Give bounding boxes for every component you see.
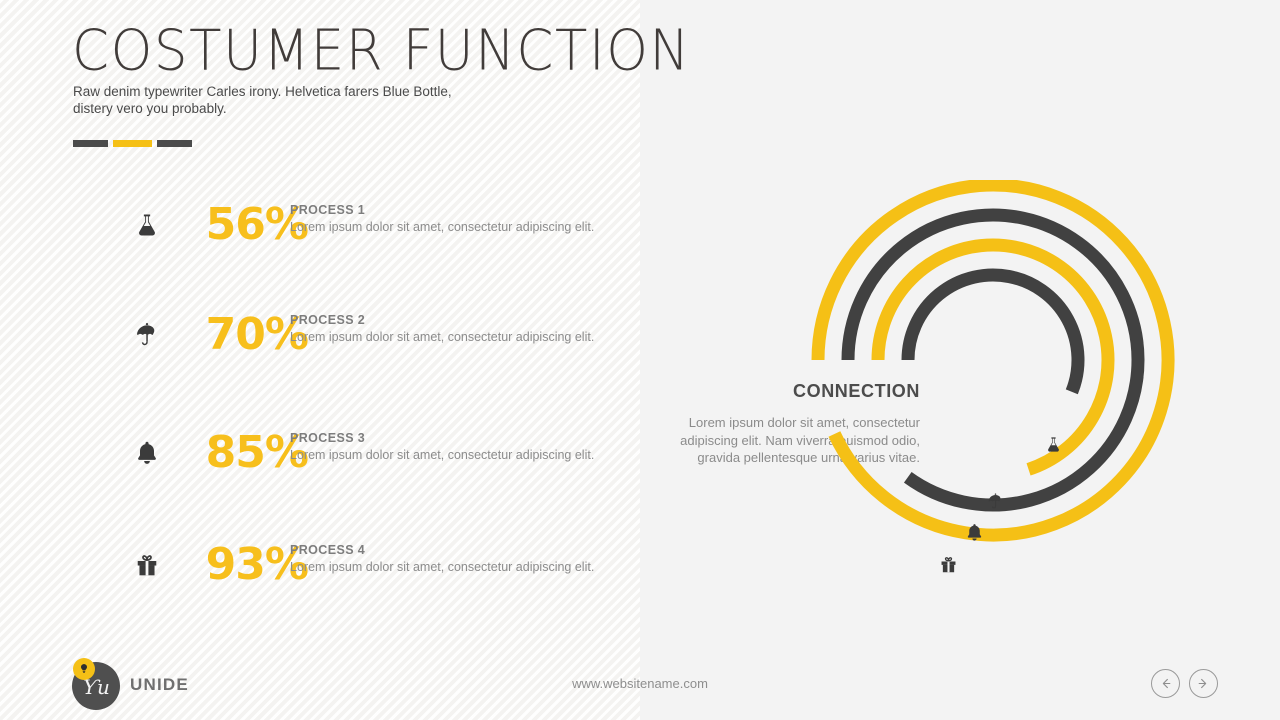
- process-title: PROCESS 4: [290, 543, 610, 557]
- process-text-block: PROCESS 1 Lorem ipsum dolor sit amet, co…: [290, 203, 610, 235]
- process-item-4[interactable]: 93% PROCESS 4 Lorem ipsum dolor sit amet…: [130, 540, 610, 610]
- radial-arc-chart: [800, 180, 1200, 600]
- website-url: www.websitename.com: [440, 676, 840, 691]
- brand-name: UNIDE: [130, 675, 189, 695]
- page-title: COSTUMER FUNCTION: [72, 18, 691, 83]
- flask-icon: [1041, 432, 1065, 456]
- process-text-block: PROCESS 2 Lorem ipsum dolor sit amet, co…: [290, 313, 610, 345]
- process-percent: 93%: [160, 540, 308, 590]
- slide-root: COSTUMER FUNCTION Raw denim typewriter C…: [0, 0, 1280, 720]
- process-title: PROCESS 1: [290, 203, 610, 217]
- gift-icon: [936, 552, 960, 576]
- process-description: Lorem ipsum dolor sit amet, consectetur …: [290, 219, 610, 235]
- process-text-block: PROCESS 3 Lorem ipsum dolor sit amet, co…: [290, 431, 610, 463]
- brand-logo[interactable]: Ƴu UNIDE: [72, 662, 282, 712]
- process-description: Lorem ipsum dolor sit amet, consectetur …: [290, 447, 610, 463]
- process-percent: 70%: [160, 310, 308, 360]
- process-title: PROCESS 3: [290, 431, 610, 445]
- lightbulb-icon: [73, 658, 95, 680]
- arc-gift: [818, 185, 1168, 535]
- flask-icon: [130, 208, 164, 242]
- process-description: Lorem ipsum dolor sit amet, consectetur …: [290, 559, 610, 575]
- progress-bar-segment-3: [157, 140, 192, 147]
- process-description: Lorem ipsum dolor sit amet, consectetur …: [290, 329, 610, 345]
- arrow-right-icon: [1196, 676, 1211, 691]
- umbrella-icon: [130, 318, 164, 352]
- slide-navigation: [1151, 669, 1218, 698]
- arrow-left-icon: [1158, 676, 1173, 691]
- umbrella-icon: [983, 489, 1007, 513]
- bell-icon: [130, 436, 164, 470]
- bell-icon: [962, 520, 986, 544]
- gift-icon: [130, 548, 164, 582]
- process-item-2[interactable]: 70% PROCESS 2 Lorem ipsum dolor sit amet…: [130, 310, 610, 380]
- next-slide-button[interactable]: [1189, 669, 1218, 698]
- radial-arc-svg: [800, 180, 1200, 600]
- page-subtitle: Raw denim typewriter Carles irony. Helve…: [73, 84, 493, 117]
- process-item-1[interactable]: 56% PROCESS 1 Lorem ipsum dolor sit amet…: [130, 200, 610, 270]
- progress-bar-segment-2: [113, 140, 152, 147]
- process-percent: 56%: [160, 200, 308, 250]
- process-title: PROCESS 2: [290, 313, 610, 327]
- process-item-3[interactable]: 85% PROCESS 3 Lorem ipsum dolor sit amet…: [130, 428, 610, 498]
- progress-bar-group: [73, 140, 192, 147]
- arc-flask: [908, 275, 1078, 392]
- prev-slide-button[interactable]: [1151, 669, 1180, 698]
- process-text-block: PROCESS 4 Lorem ipsum dolor sit amet, co…: [290, 543, 610, 575]
- arc-bell: [848, 215, 1138, 505]
- process-percent: 85%: [160, 428, 308, 478]
- progress-bar-segment-1: [73, 140, 108, 147]
